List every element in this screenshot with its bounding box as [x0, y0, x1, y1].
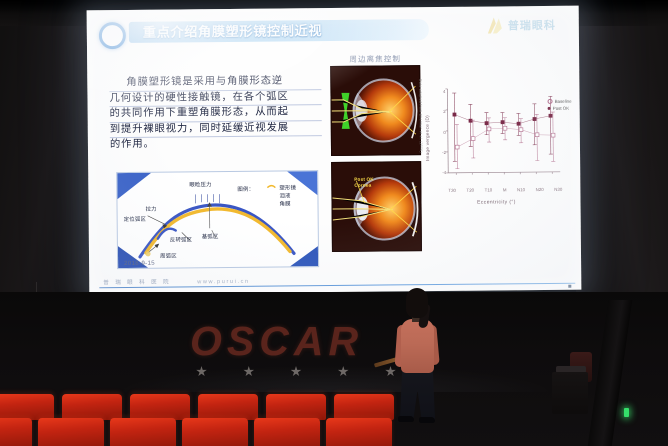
- eye-diagram-spectacle: [330, 65, 421, 156]
- x-tick: T10: [485, 187, 493, 192]
- post-ok-cornea-tag: Post OKCornea: [354, 177, 374, 188]
- theater-seat: [38, 418, 104, 446]
- y-tick: -2: [442, 150, 446, 155]
- theater-seat: [0, 394, 54, 420]
- footer-url: www.purui.cn: [197, 279, 250, 286]
- cornea-cross-section-figure: 眼睑压力 拉力 定位弧区 反转弧区 基弧区 周弧区 图例： 塑形镜 泪液 角膜 …: [116, 170, 319, 269]
- theater-seat: [266, 394, 326, 420]
- eye-diagram-column: 周边离焦控制: [330, 53, 422, 264]
- y-tick: 0: [443, 129, 446, 134]
- theater-seat: [110, 418, 176, 446]
- figure-label: 定位弧区: [124, 215, 146, 223]
- chart-x-axis-label: Eccentricity (°): [426, 199, 566, 206]
- slide-paragraph: 角膜塑形镜是采用与角膜形态逆 几何设计的硬性接触镜，在各个弧区 的共同作用下重塑…: [109, 74, 322, 153]
- x-tick: T20: [467, 188, 475, 193]
- x-tick: N20: [536, 187, 544, 192]
- venue-stars: [196, 366, 396, 377]
- theater-seat: [0, 418, 32, 446]
- figure-legend-item: 塑形镜: [279, 183, 296, 191]
- x-tick: M: [503, 187, 507, 192]
- slide-footer: 普 瑞 眼 科 医 院 www.purui.cn: [89, 270, 581, 295]
- circle-outline-icon: [99, 22, 126, 49]
- eye-diagram-post-ok: Post OKCornea: [331, 161, 422, 252]
- auditorium-scene: 重点介绍角膜塑形镜控制近视 普瑞眼科 角膜塑形镜是采用与角膜形态逆: [0, 0, 668, 446]
- figure-label: 拉力: [146, 205, 157, 213]
- projection-screen: 重点介绍角膜塑形镜控制近视 普瑞眼科 角膜塑形镜是采用与角膜形态逆: [87, 6, 582, 295]
- eye-clinic-logo-icon: [485, 15, 505, 36]
- x-tick: N30: [554, 187, 562, 192]
- presenter-head: [406, 288, 428, 318]
- eye-diagram-source-note: Data adapted from Charman et al. (2006): [418, 79, 423, 153]
- theater-seat: [198, 394, 258, 420]
- x-tick: T30: [448, 188, 456, 193]
- x-tick: N10: [517, 187, 525, 192]
- chart-legend: Baseline Post OK: [547, 98, 571, 112]
- eye-section-title: 周边离焦控制: [330, 53, 420, 66]
- brand-logo: 普瑞眼科: [485, 12, 571, 39]
- chart-plot-area: [425, 84, 566, 193]
- star-icon: [196, 366, 207, 377]
- slide-body: 角膜塑形镜是采用与角膜形态逆 几何设计的硬性接触镜，在各个弧区 的共同作用下重塑…: [87, 48, 581, 275]
- figure-legend-item: 角膜: [279, 199, 290, 207]
- y-tick: -4: [442, 170, 446, 175]
- footer-company: 普 瑞 眼 科 医 院: [103, 278, 171, 287]
- theater-seat: [182, 418, 248, 446]
- presenter-torso: [401, 319, 434, 373]
- figure-legend-item: 泪液: [279, 191, 290, 199]
- figure-label: 眼睑压力: [189, 180, 211, 188]
- y-tick: 4: [443, 89, 446, 94]
- slide-title: 重点介绍角膜塑形镜控制近视: [143, 20, 433, 43]
- theater-seat: [326, 418, 392, 446]
- figure-legend-title: 图例：: [237, 185, 254, 193]
- chart-y-ticks: 4 2 0 -2 -4: [429, 89, 446, 175]
- figure-label: 基弧区: [202, 232, 219, 240]
- audience-seating: [0, 380, 668, 446]
- theater-seat: [254, 418, 320, 446]
- star-icon: [338, 366, 349, 377]
- chart-x-ticks: T30 T20 T10 M N10 N20 N30: [448, 187, 562, 193]
- theater-seat: [130, 394, 190, 420]
- eccentricity-chart: Image vergence (D) 4 2 0 -2 -4 T30 T20 T…: [425, 84, 566, 205]
- brand-name: 普瑞眼科: [508, 17, 556, 33]
- slide-header: 重点介绍角膜塑形镜控制近视 普瑞眼科: [87, 6, 579, 53]
- footer-page-marker: [568, 285, 571, 288]
- figure-date: 2018-9-15: [124, 261, 155, 267]
- paragraph-line: 的作用。: [110, 136, 322, 153]
- figure-label: 反转弧区: [170, 235, 192, 243]
- legend-entry: Post OK: [547, 105, 571, 112]
- figure-label: 周弧区: [160, 252, 177, 260]
- venue-name: OSCAR: [190, 318, 363, 364]
- filled-square-marker-icon: [547, 107, 551, 111]
- y-tick: 2: [443, 109, 446, 114]
- theater-seat: [334, 394, 394, 420]
- star-icon: [291, 366, 302, 377]
- star-icon: [243, 366, 254, 377]
- open-square-marker-icon: [547, 99, 553, 105]
- theater-seat: [62, 394, 122, 420]
- legend-label: Post OK: [553, 105, 569, 112]
